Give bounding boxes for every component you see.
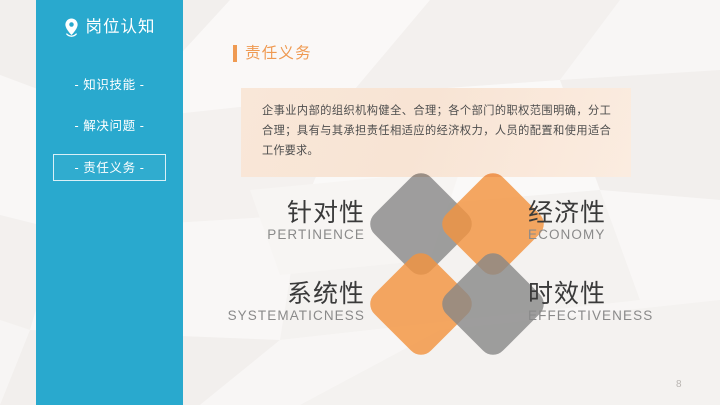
diagram-label-effectiveness: 时效性 EFFECTIVENESS [528, 281, 708, 324]
slide-canvas: 岗位认知 - 知识技能 - - 解决问题 - - 责任义务 - 责任义务 企事业… [0, 0, 720, 405]
info-box: 企事业内部的组织机构健全、合理；各个部门的职权范围明确，分工合理；具有与其承担责… [241, 88, 631, 177]
diagram-label-systematicness: 系统性 SYSTEMATICNESS [185, 281, 365, 324]
diagram-label-systematicness-en: SYSTEMATICNESS [185, 308, 365, 324]
sidebar-menu: - 知识技能 - - 解决问题 - - 责任义务 - [36, 72, 183, 195]
info-box-text: 企事业内部的组织机构健全、合理；各个部门的职权范围明确，分工合理；具有与其承担责… [262, 102, 611, 162]
sidebar: 岗位认知 - 知识技能 - - 解决问题 - - 责任义务 - [36, 0, 183, 405]
diagram-label-pertinence-cn: 针对性 [185, 200, 365, 226]
diamond-diagram: 针对性 PERTINENCE 系统性 SYSTEMATICNESS 经济性 EC… [183, 178, 720, 353]
sidebar-title: 岗位认知 [86, 19, 156, 36]
diagram-label-pertinence: 针对性 PERTINENCE [185, 200, 365, 243]
diagram-label-economy-en: ECONOMY [528, 227, 708, 243]
diagram-label-effectiveness-cn: 时效性 [528, 281, 708, 307]
location-pin-icon [64, 18, 79, 37]
page-title: 责任义务 [245, 46, 312, 62]
section-heading: 责任义务 [233, 45, 312, 62]
diamond-shape-group [381, 178, 533, 353]
diagram-label-effectiveness-en: EFFECTIVENESS [528, 308, 708, 324]
diagram-label-economy-cn: 经济性 [528, 200, 708, 226]
diagram-label-systematicness-cn: 系统性 [185, 281, 365, 307]
heading-accent-bar [233, 45, 237, 62]
sidebar-item-problem-solving[interactable]: - 解决问题 - [53, 113, 166, 140]
sidebar-item-responsibilities[interactable]: - 责任义务 - [53, 154, 166, 181]
diagram-label-pertinence-en: PERTINENCE [185, 227, 365, 243]
sidebar-header: 岗位认知 [36, 18, 183, 37]
diagram-label-economy: 经济性 ECONOMY [528, 200, 708, 243]
main-content: 责任义务 企事业内部的组织机构健全、合理；各个部门的职权范围明确，分工合理；具有… [183, 0, 720, 405]
page-number: 8 [676, 379, 682, 390]
sidebar-item-knowledge-skills[interactable]: - 知识技能 - [53, 72, 166, 99]
